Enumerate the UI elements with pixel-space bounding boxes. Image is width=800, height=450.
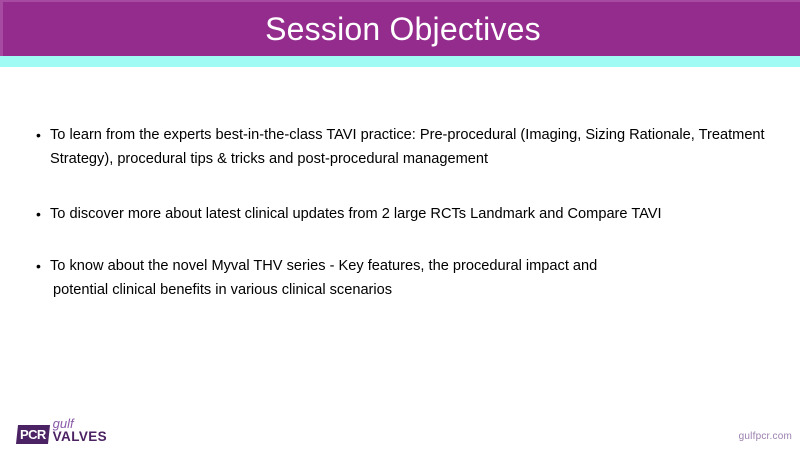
list-item: • To learn from the experts best-in-the-… xyxy=(30,123,780,171)
accent-divider xyxy=(0,56,800,67)
bullet-marker-icon: • xyxy=(36,254,48,278)
list-item-text: To learn from the experts best-in-the-cl… xyxy=(50,123,780,171)
list-item: • To discover more about latest clinical… xyxy=(30,202,780,226)
list-item-line: To learn from the experts best-in-the-cl… xyxy=(50,127,695,143)
title-band: Session Objectives xyxy=(0,0,800,56)
page-title: Session Objectives xyxy=(3,2,800,58)
pcr-logo-text: PCR xyxy=(20,428,46,441)
logo-word-valves: VALVES xyxy=(53,430,107,444)
bullet-marker-icon: • xyxy=(36,202,48,226)
list-item: • To know about the novel Myval THV seri… xyxy=(30,254,780,302)
list-item-line: To discover more about latest clinical u… xyxy=(50,206,662,222)
bullet-marker-icon: • xyxy=(36,123,48,147)
list-item-line: To know about the novel Myval THV series… xyxy=(50,258,597,274)
pcr-logo-mark: PCR xyxy=(16,425,50,444)
list-item-line: potential clinical benefits in various c… xyxy=(50,278,780,302)
list-item-text: To know about the novel Myval THV series… xyxy=(50,254,780,302)
slide: Session Objectives • To learn from the e… xyxy=(0,0,800,450)
footer-website-url: gulfpcr.com xyxy=(739,431,792,442)
gulf-pcr-valves-logo: PCR gulf VALVES xyxy=(17,417,107,444)
list-item-text: To discover more about latest clinical u… xyxy=(50,202,780,226)
content-body: • To learn from the experts best-in-the-… xyxy=(0,67,800,397)
logo-wordmark: gulf VALVES xyxy=(53,417,107,444)
